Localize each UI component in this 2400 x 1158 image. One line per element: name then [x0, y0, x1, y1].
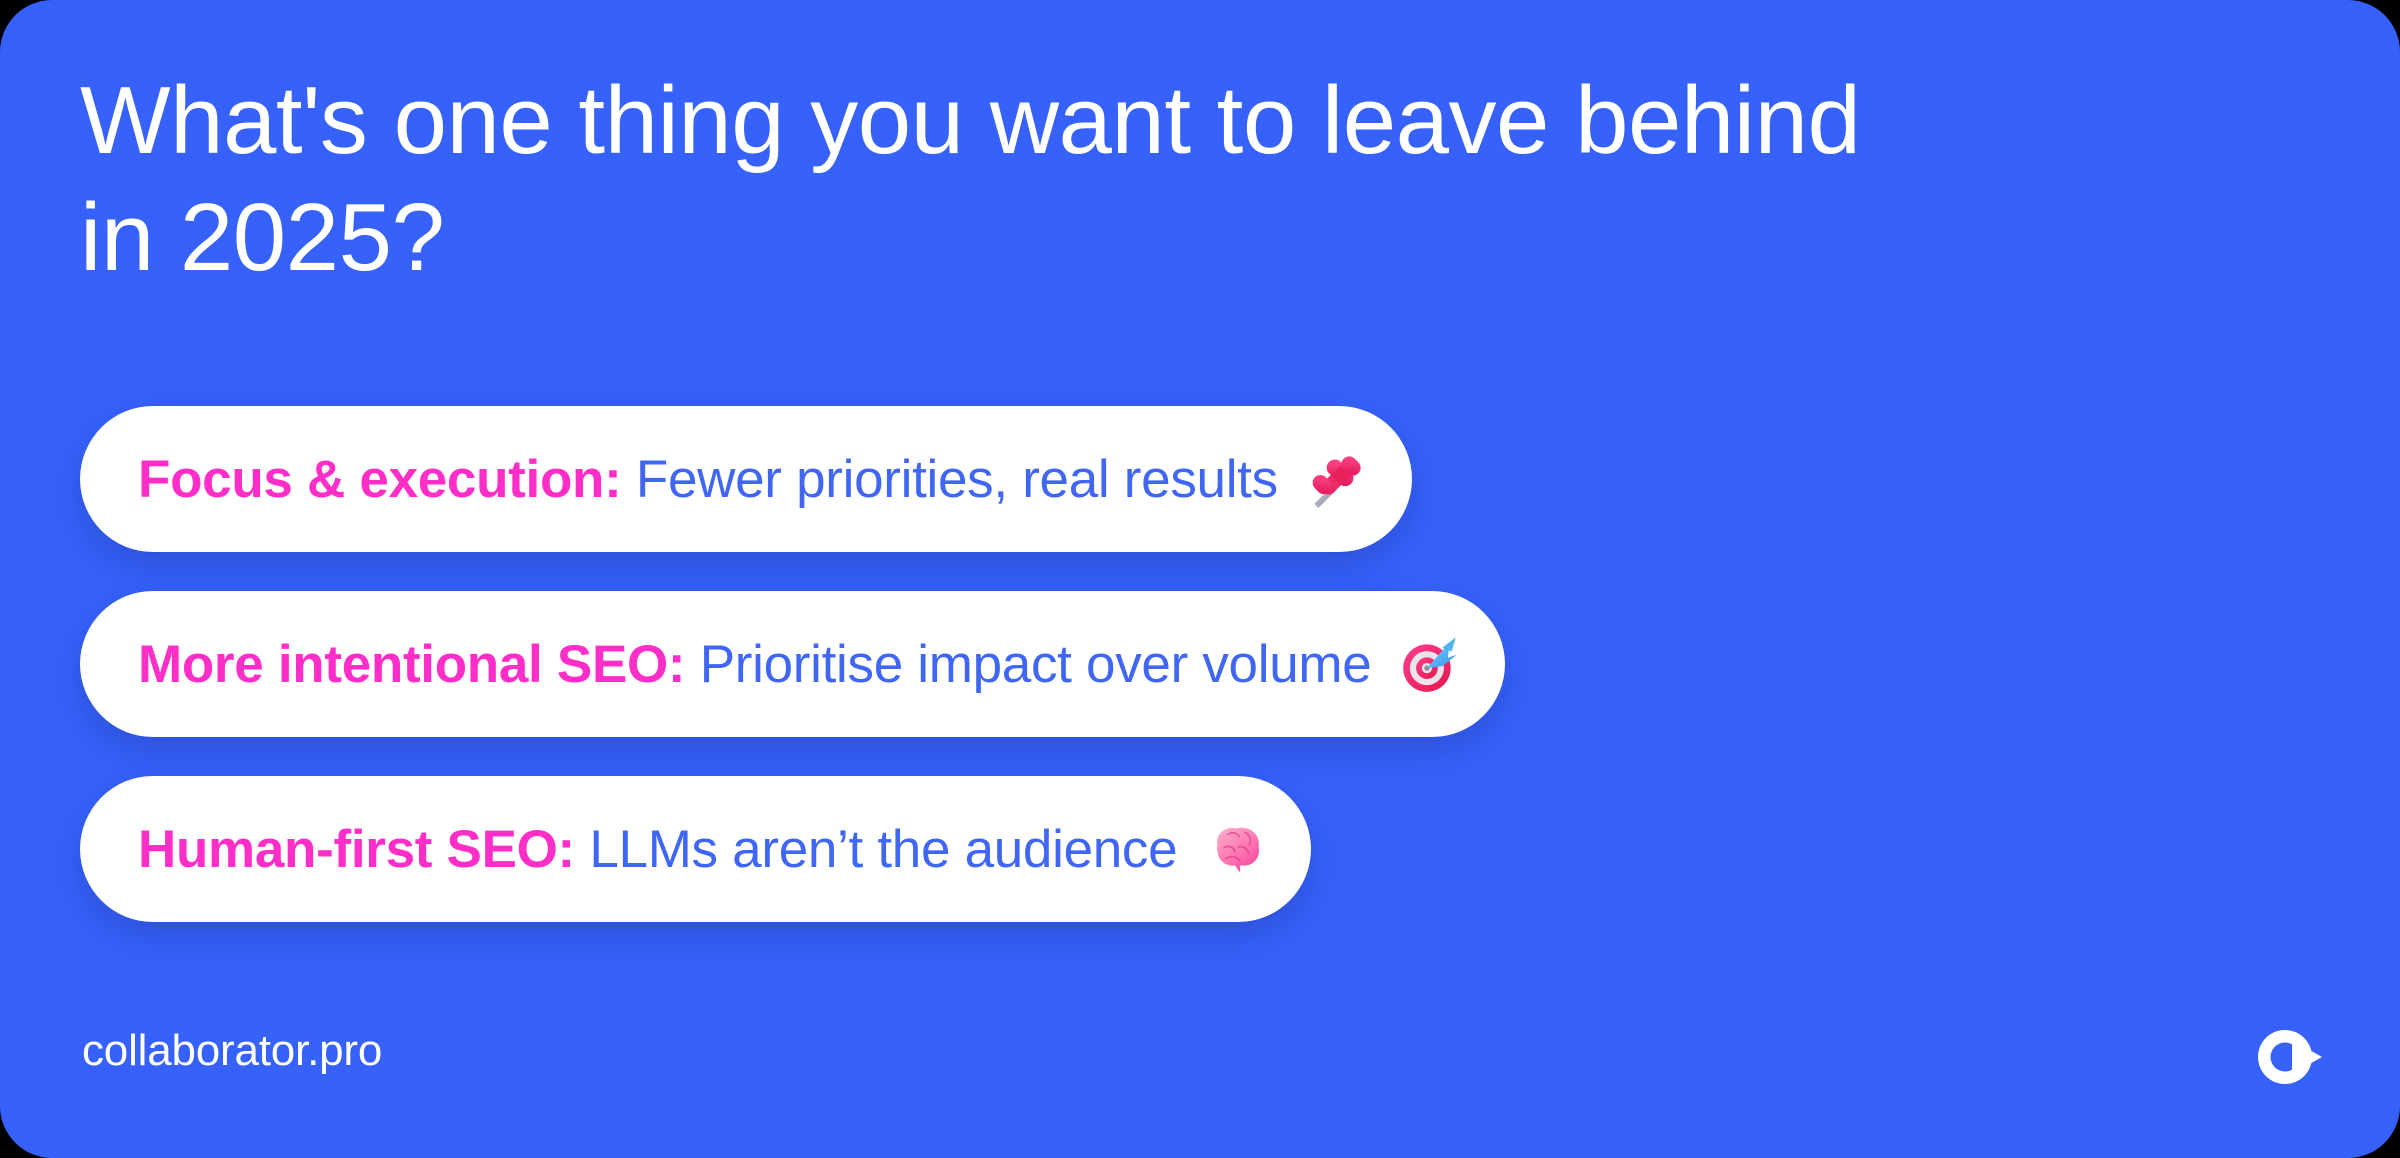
- card-body: LLMs aren’t the audience: [589, 820, 1177, 879]
- collaborator-logo: [2252, 1026, 2326, 1088]
- card-body: Fewer priorities, real results: [636, 450, 1278, 509]
- dart-target-icon: [1397, 631, 1463, 697]
- card-body: Prioritise impact over volume: [700, 635, 1372, 694]
- card-label: Focus & execution:: [138, 450, 621, 509]
- card-label: More intentional SEO:: [138, 635, 685, 694]
- list-item[interactable]: More intentional SEO: Prioritise impact …: [80, 591, 1505, 737]
- answer-card-list: Focus & execution: Fewer priorities, rea…: [80, 406, 1505, 922]
- page-title: What's one thing you want to leave behin…: [80, 62, 1880, 296]
- list-item[interactable]: Human-first SEO: LLMs aren’t the audienc…: [80, 776, 1311, 922]
- footer-url[interactable]: collaborator.pro: [82, 1026, 382, 1076]
- card-label: Human-first SEO:: [138, 820, 575, 879]
- list-item[interactable]: Focus & execution: Fewer priorities, rea…: [80, 406, 1412, 552]
- pushpin-icon: [1304, 446, 1370, 512]
- slide-canvas: What's one thing you want to leave behin…: [0, 0, 2400, 1158]
- brain-icon: [1203, 816, 1269, 882]
